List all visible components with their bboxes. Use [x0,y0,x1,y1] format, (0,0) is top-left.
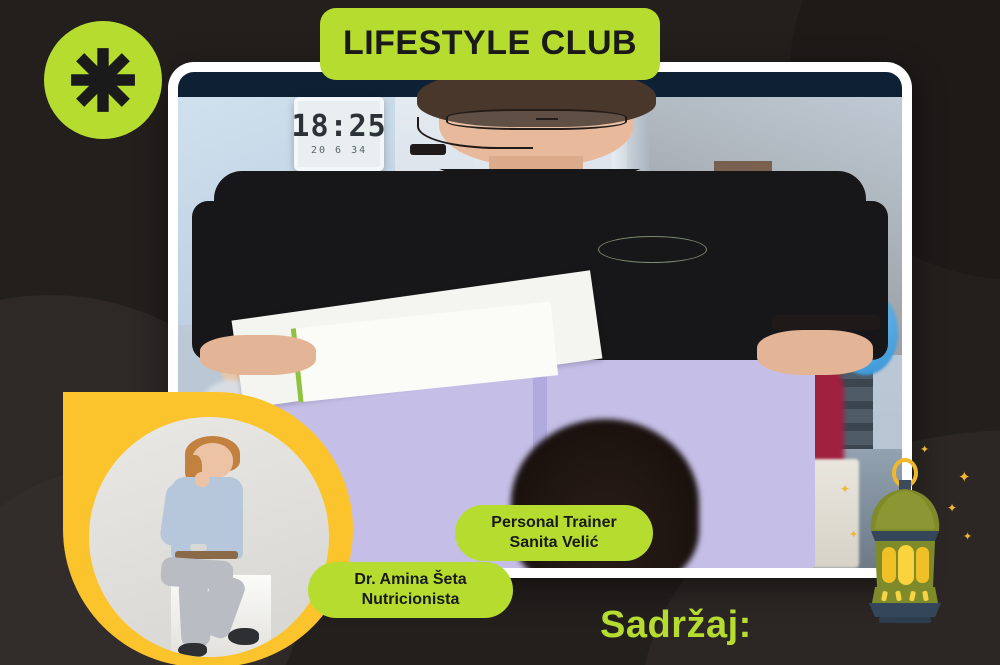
sparkle-icon: ✦ [849,530,858,541]
nutritionist-shoe-front [228,628,259,645]
sparkle-icon: ✦ [958,470,971,485]
trainer-name-label: Sanita Velić [510,533,599,553]
sparkle-icon: ✦ [840,483,850,495]
nutritionist-photo-panel [63,392,353,665]
sparkle-icon: ✦ [963,532,972,543]
trainer-hand-right [757,330,873,375]
sparkle-icon: ✦ [947,502,957,514]
clock-time: 18:25 [291,112,386,142]
trainer-shirt-logo [598,236,707,263]
asterisk-star-icon [44,21,162,139]
poster-title: LIFESTYLE CLUB [320,8,660,80]
trainer-name-badge: Personal Trainer Sanita Velić [455,505,653,561]
clock-secondary-readout: 20 6 34 [311,145,367,156]
nutritionist-hand [195,472,209,486]
nutritionist-shoe-back [178,643,207,657]
nutritionist-name-badge: Dr. Amina Šeta Nutricionista [308,562,513,618]
section-label: Sadržaj: [600,604,752,647]
nutritionist-role-label: Nutricionista [362,590,460,610]
trainer-mic-capsule [410,144,446,155]
trainer-hand-left [200,335,316,375]
ramadan-lantern-icon [855,455,955,630]
trainer-watch [772,315,881,330]
nutritionist-photo [89,417,329,657]
trainer-role-label: Personal Trainer [491,513,616,533]
wall-clock: 18:25 20 6 34 [294,97,385,171]
nutritionist-watch [190,544,207,551]
nutritionist-name-label: Dr. Amina Šeta [354,570,466,590]
poster-canvas: 18:25 20 6 34 [0,0,1000,665]
sparkle-icon: ✦ [920,445,929,456]
